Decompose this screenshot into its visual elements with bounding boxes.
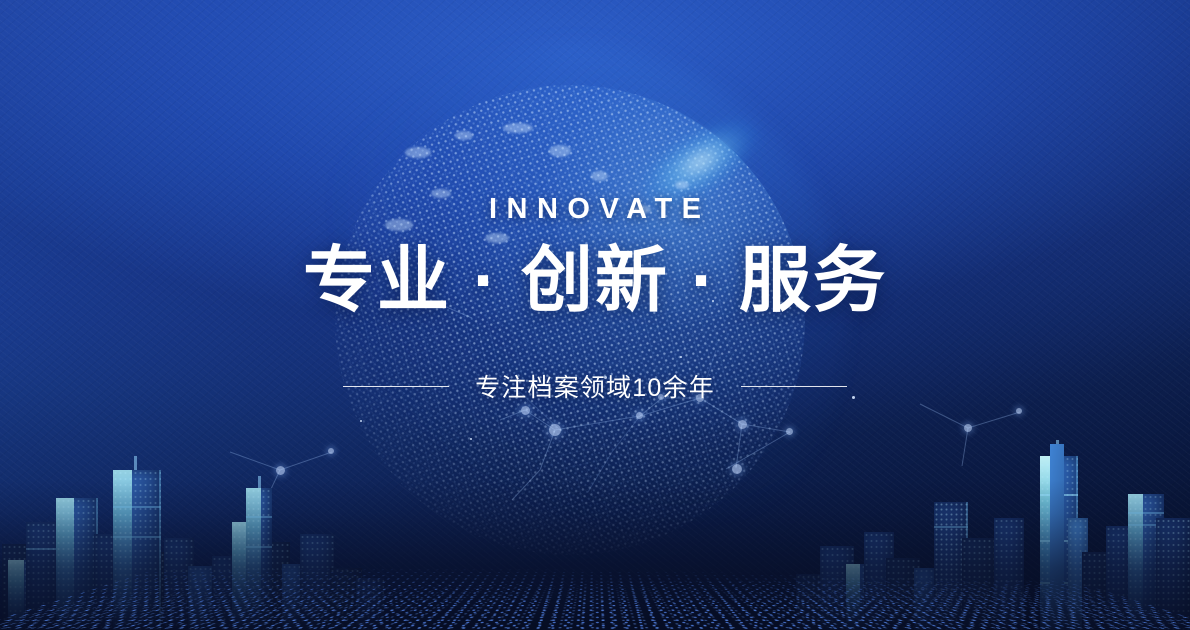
hero-subtitle-row: 专注档案领域10余年 [0,368,1190,404]
hero-headline: 专业 · 创新 · 服务 [0,245,1190,318]
hero-subtitle: 专注档案领域10余年 [475,368,715,404]
divider-line-right [741,386,847,387]
hero-kicker: INNOVATE [0,193,1190,226]
divider-line-left [343,386,449,387]
hero-content: INNOVATE 专业 · 创新 · 服务 专注档案领域10余年 [0,0,1190,630]
hero-banner: INNOVATE 专业 · 创新 · 服务 专注档案领域10余年 [0,0,1190,630]
